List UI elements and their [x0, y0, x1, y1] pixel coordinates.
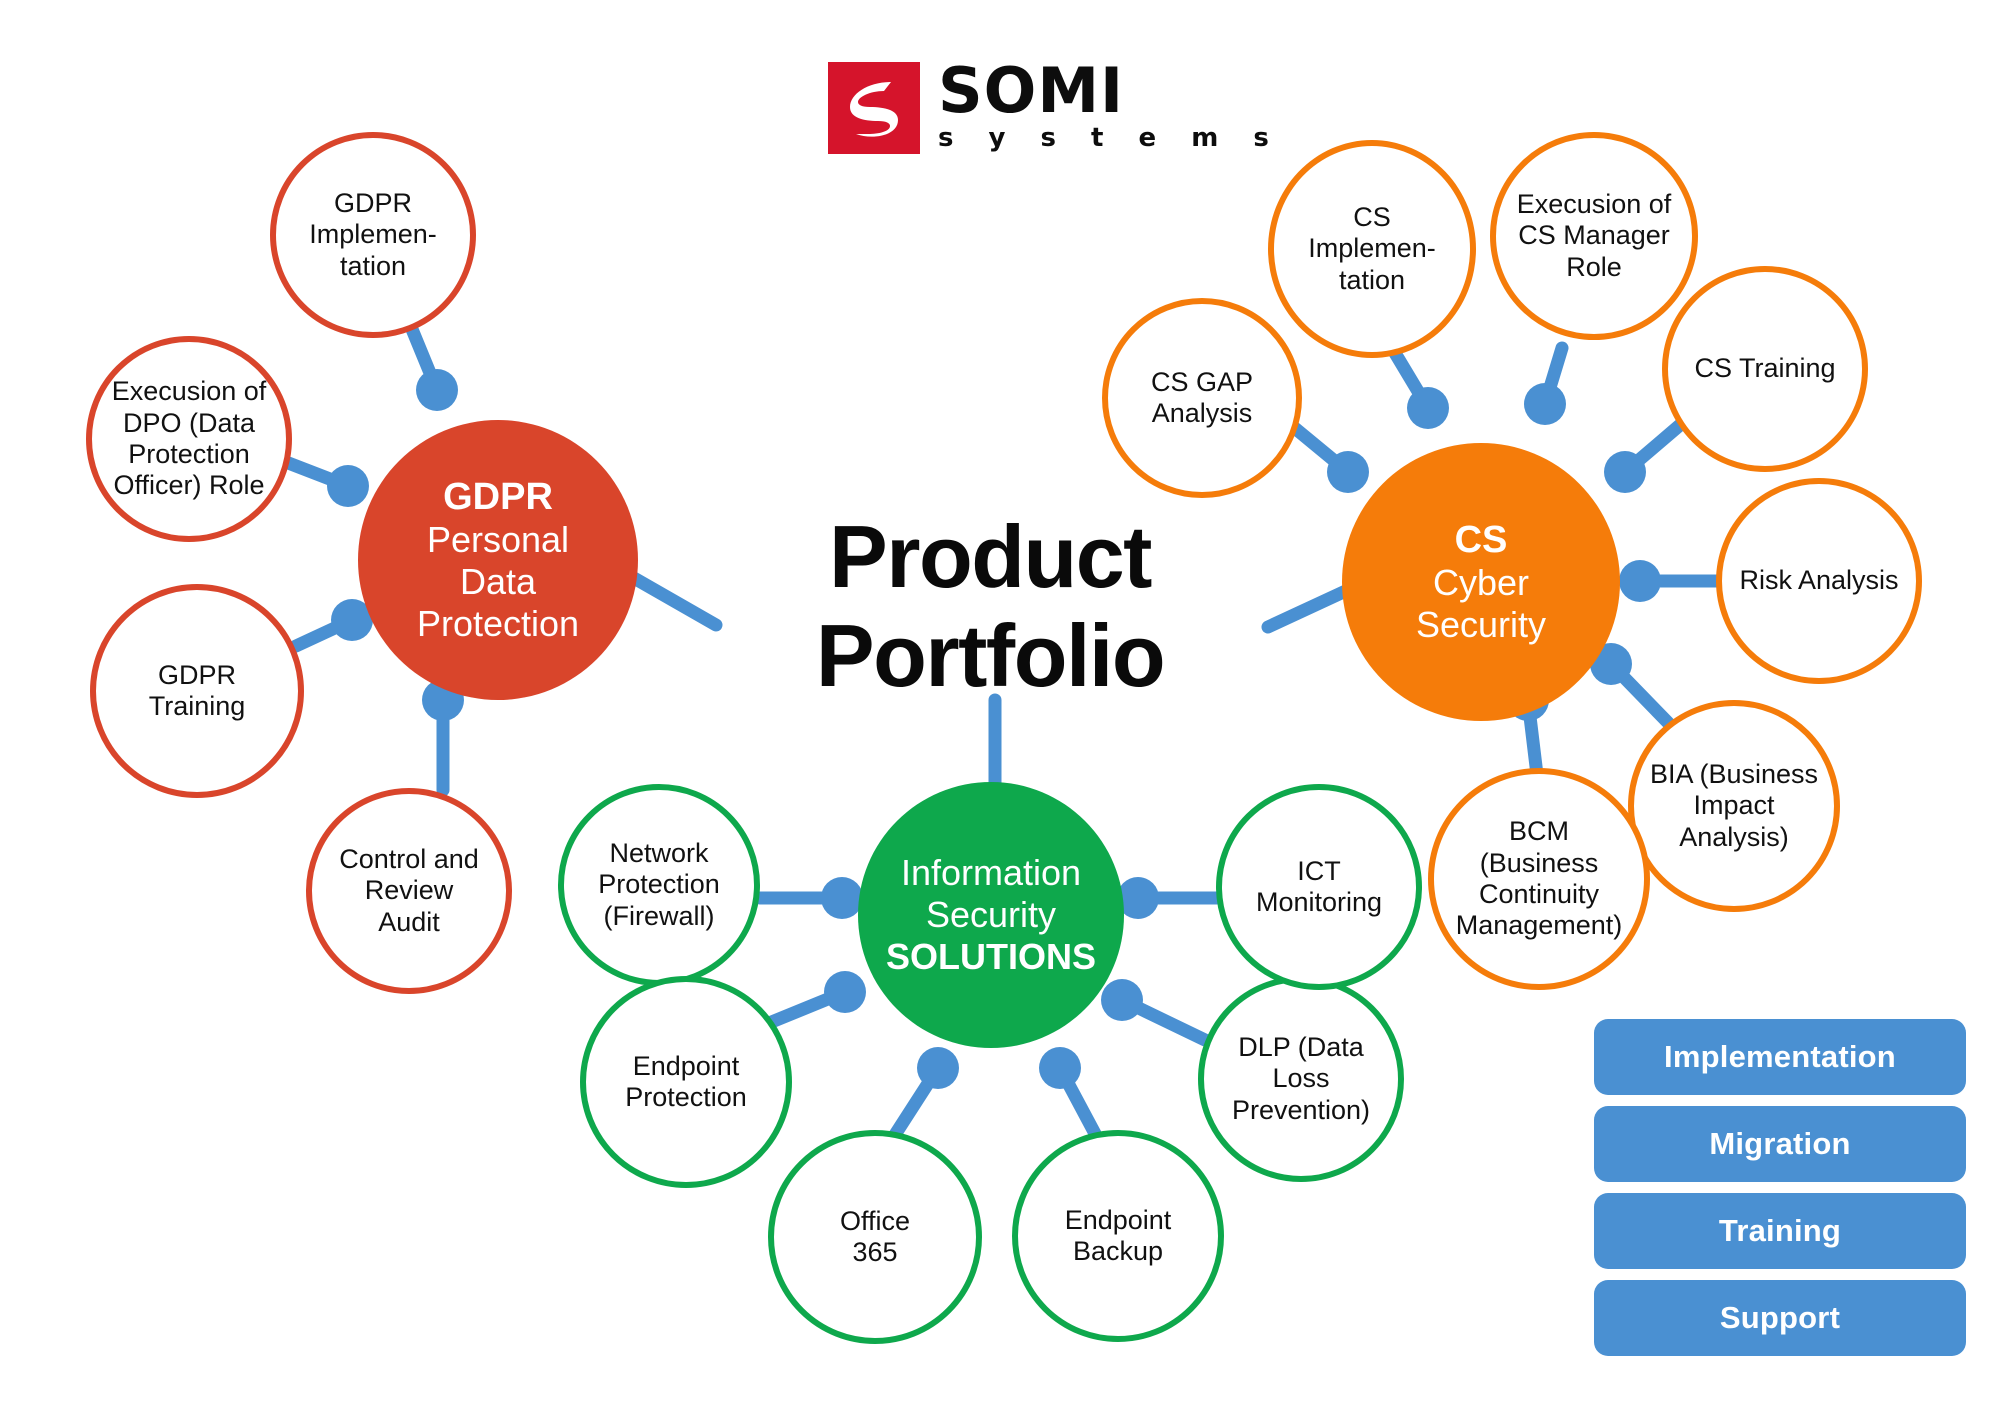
- page-title-line-2: Portfolio: [780, 607, 1200, 706]
- dot-network-protection: [821, 877, 863, 919]
- node-label: BCM(BusinessContinuityManagement): [1450, 816, 1629, 941]
- node-cs-gap-analysis[interactable]: CS GAPAnalysis: [1102, 298, 1302, 498]
- node-control-review-audit[interactable]: Control andReviewAudit: [306, 788, 512, 994]
- service-offerings-list: Implementation Migration Training Suppor…: [1594, 1019, 1966, 1356]
- dot-dlp: [1101, 979, 1143, 1021]
- node-label: CSImplemen-tation: [1302, 202, 1442, 296]
- service-button-migration[interactable]: Migration: [1594, 1106, 1966, 1182]
- service-button-training[interactable]: Training: [1594, 1193, 1966, 1269]
- dot-execution-dpo-role: [327, 465, 369, 507]
- node-label: Control andReviewAudit: [333, 844, 485, 938]
- node-endpoint-backup[interactable]: EndpointBackup: [1012, 1130, 1224, 1342]
- dot-gdpr-implementation: [416, 369, 458, 411]
- hub-line-2: Security: [886, 894, 1096, 936]
- node-bia[interactable]: BIA (BusinessImpactAnalysis): [1628, 700, 1840, 912]
- node-execution-dpo-role[interactable]: Execusion ofDPO (DataProtectionOfficer) …: [86, 336, 292, 542]
- node-label: NetworkProtection(Firewall): [592, 838, 726, 932]
- node-label: Execusion ofDPO (DataProtectionOfficer) …: [106, 376, 273, 501]
- page-title-line-1: Product: [780, 508, 1200, 607]
- node-ict-monitoring[interactable]: ICTMonitoring: [1216, 784, 1422, 990]
- node-label: ICTMonitoring: [1250, 856, 1388, 919]
- node-label: EndpointBackup: [1059, 1205, 1178, 1268]
- node-label: CS GAPAnalysis: [1145, 367, 1259, 430]
- dot-execution-cs-manager-role: [1524, 383, 1566, 425]
- node-label: EndpointProtection: [619, 1051, 753, 1114]
- service-button-support[interactable]: Support: [1594, 1280, 1966, 1356]
- hub-line-3: SOLUTIONS: [886, 936, 1096, 978]
- node-network-protection-firewall[interactable]: NetworkProtection(Firewall): [558, 784, 760, 986]
- hub-line-4: Protection: [417, 603, 579, 645]
- hub-line-3: Security: [1416, 604, 1546, 646]
- hub-line-2: Cyber: [1416, 562, 1546, 604]
- hub-line-1: GDPR: [417, 475, 579, 519]
- dot-endpoint-backup: [1039, 1047, 1081, 1089]
- hub-line-1: Information: [886, 852, 1096, 894]
- node-cs-implementation[interactable]: CSImplemen-tation: [1268, 140, 1476, 358]
- node-label: Office365: [834, 1206, 916, 1269]
- product-portfolio-diagram: SOMI s y s t e m s: [0, 0, 2000, 1414]
- node-dlp[interactable]: DLP (DataLossPrevention): [1198, 976, 1404, 1182]
- dot-cs-training: [1604, 451, 1646, 493]
- node-gdpr-training[interactable]: GDPRTraining: [90, 584, 304, 798]
- node-label: Execusion ofCS ManagerRole: [1511, 189, 1678, 283]
- hub-label: CS Cyber Security: [1410, 518, 1552, 646]
- node-bcm[interactable]: BCM(BusinessContinuityManagement): [1428, 768, 1650, 990]
- dot-office-365: [917, 1047, 959, 1089]
- node-label: CS Training: [1688, 353, 1841, 384]
- node-execution-cs-manager-role[interactable]: Execusion ofCS ManagerRole: [1490, 132, 1698, 340]
- node-gdpr-implementation[interactable]: GDPRImplemen-tation: [270, 132, 476, 338]
- node-label: DLP (DataLossPrevention): [1226, 1032, 1376, 1126]
- hub-label: GDPR Personal Data Protection: [411, 475, 585, 644]
- node-label: GDPRTraining: [143, 660, 252, 723]
- dot-cs-gap-analysis: [1327, 451, 1369, 493]
- hub-label: Information Security SOLUTIONS: [880, 852, 1102, 977]
- service-button-implementation[interactable]: Implementation: [1594, 1019, 1966, 1095]
- node-cs-training[interactable]: CS Training: [1662, 266, 1868, 472]
- node-label: GDPRImplemen-tation: [303, 188, 443, 282]
- dot-endpoint-protection: [824, 971, 866, 1013]
- hub-line-3: Data: [417, 561, 579, 603]
- dot-risk-analysis: [1619, 560, 1661, 602]
- hub-line-1: CS: [1416, 518, 1546, 562]
- node-label: Risk Analysis: [1733, 565, 1904, 596]
- node-risk-analysis[interactable]: Risk Analysis: [1716, 478, 1922, 684]
- dot-cs-implementation: [1407, 387, 1449, 429]
- node-label: BIA (BusinessImpactAnalysis): [1644, 759, 1824, 853]
- node-endpoint-protection[interactable]: EndpointProtection: [580, 976, 792, 1188]
- hub-cs-cyber-security[interactable]: CS Cyber Security: [1342, 443, 1620, 721]
- hub-line-2: Personal: [417, 519, 579, 561]
- hub-gdpr-personal-data-protection[interactable]: GDPR Personal Data Protection: [358, 420, 638, 700]
- node-office-365[interactable]: Office365: [768, 1130, 982, 1344]
- page-title: Product Portfolio: [780, 508, 1200, 705]
- hub-information-security-solutions[interactable]: Information Security SOLUTIONS: [858, 782, 1124, 1048]
